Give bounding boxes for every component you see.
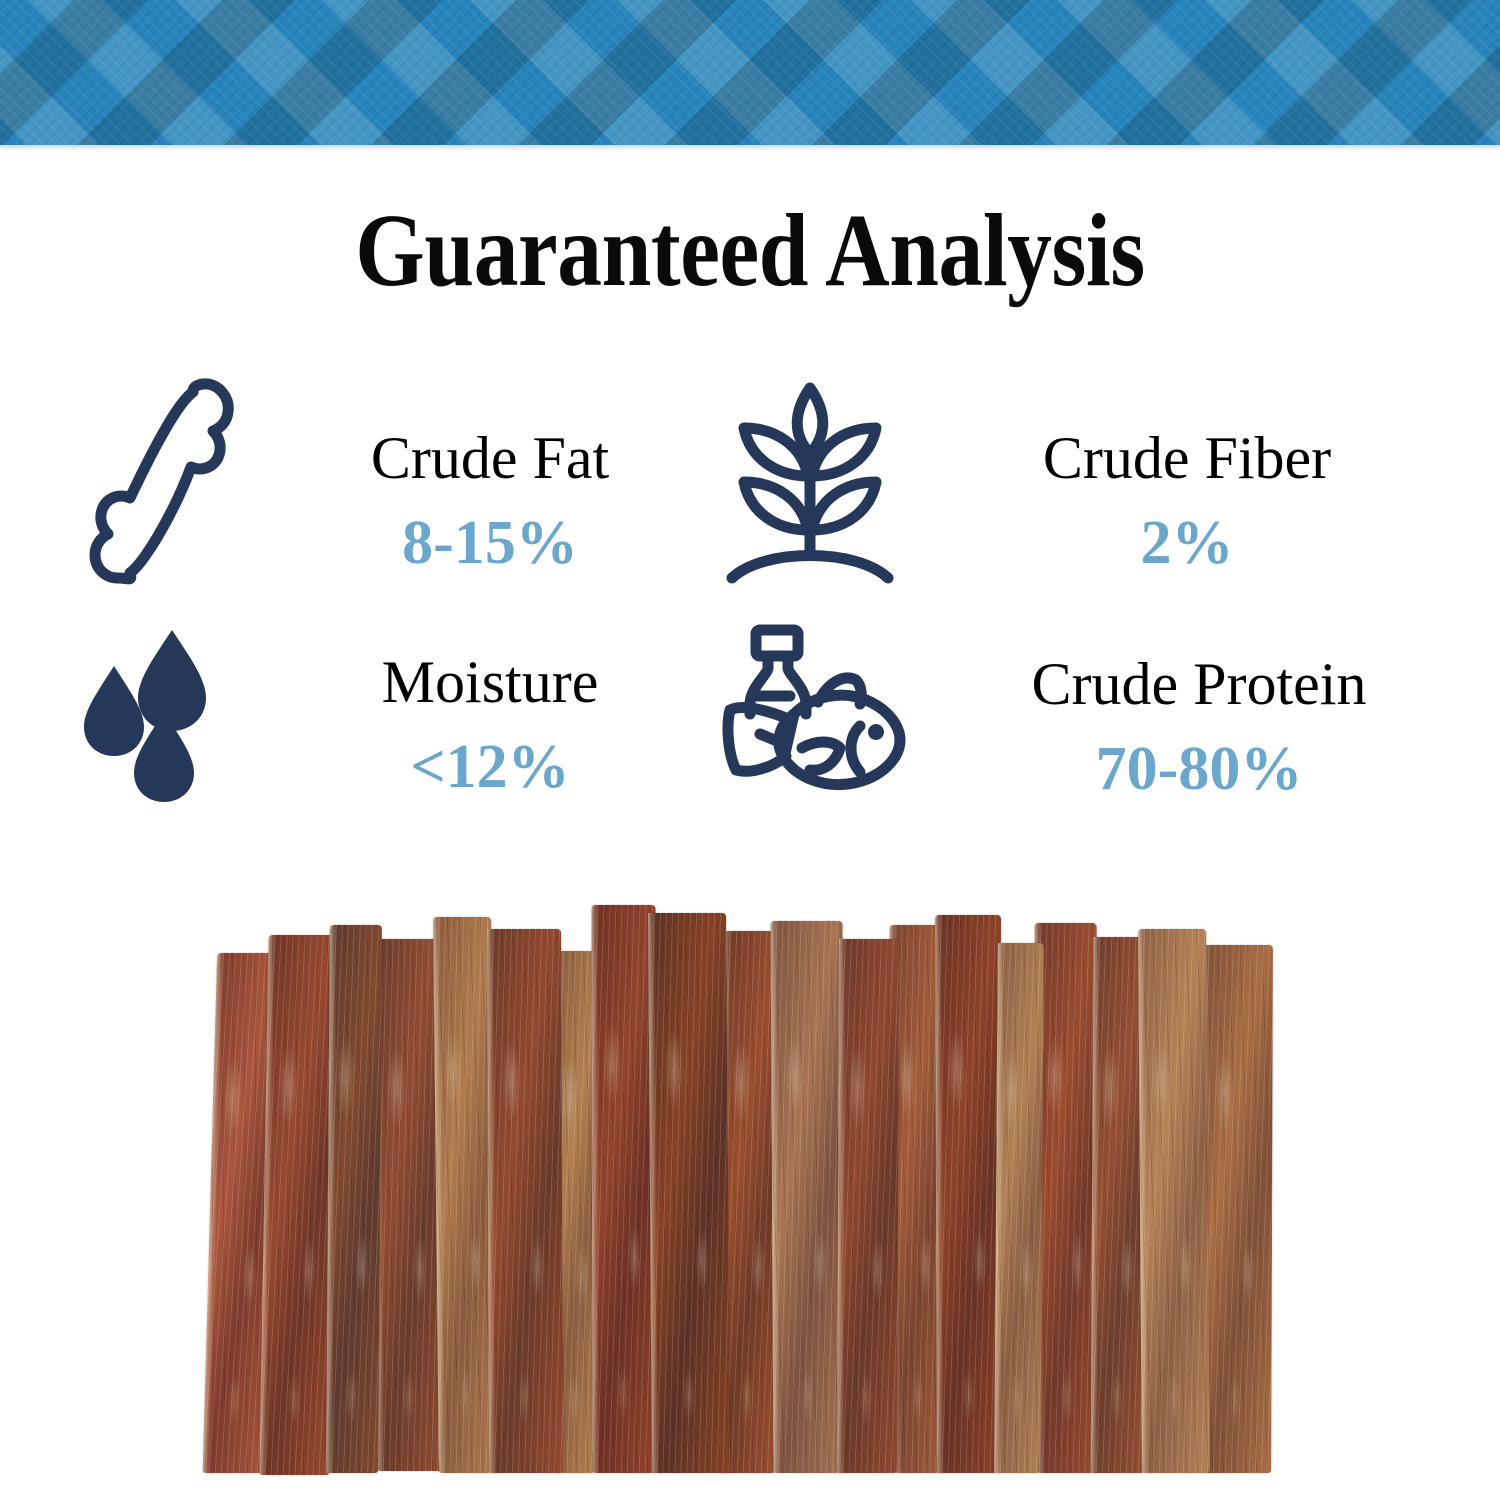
stat-moisture: Moisture <12% xyxy=(80,622,720,802)
stat-label: Crude Fat xyxy=(371,428,609,488)
jerky-strip xyxy=(935,915,1003,1473)
stat-value: 2% xyxy=(1141,512,1234,574)
header-dropshadow xyxy=(0,145,1500,151)
jerky-strip xyxy=(1201,945,1273,1473)
stat-label: Crude Protein xyxy=(1032,654,1367,714)
jerky-strip-edge xyxy=(1091,937,1101,1473)
bone-icon xyxy=(80,366,250,591)
jerky-strip-edge xyxy=(935,915,944,1473)
jerky-strip xyxy=(375,939,444,1471)
stat-value: <12% xyxy=(410,736,569,798)
jerky-strip xyxy=(1035,923,1100,1473)
stat-crude-fiber-text: Crude Fiber 2% xyxy=(914,366,1460,574)
jerky-strip xyxy=(487,929,563,1473)
stat-crude-fat-text: Crude Fat 8-15% xyxy=(260,366,720,574)
wheat-plant-icon xyxy=(720,366,900,591)
jerky-strip xyxy=(837,939,899,1473)
stat-label: Crude Fiber xyxy=(1043,428,1331,488)
jerky-strip-edge xyxy=(771,921,781,1473)
jerky-strip xyxy=(648,913,730,1473)
infographic-page: Guaranteed Analysis Crude Fat 8-15% xyxy=(0,0,1500,1500)
stat-crude-fiber: Crude Fiber 2% xyxy=(720,366,1460,591)
jerky-strip-edge xyxy=(592,905,600,1473)
jerky-strip xyxy=(1138,929,1210,1473)
stat-value: 70-80% xyxy=(1096,738,1303,800)
header-gingham-band xyxy=(0,0,1500,145)
stat-crude-protein-text: Crude Protein 70-80% xyxy=(938,622,1460,800)
product-photo-jerky-strips xyxy=(210,895,1272,1480)
stat-moisture-text: Moisture <12% xyxy=(260,622,720,798)
gingham-thread-texture xyxy=(0,0,1500,145)
stat-crude-fat: Crude Fat 8-15% xyxy=(80,366,720,591)
jerky-strip-edge xyxy=(203,953,225,1473)
jerky-strip xyxy=(771,921,846,1473)
water-droplets-icon xyxy=(80,622,250,802)
page-title: Guaranteed Analysis xyxy=(105,196,1395,305)
fish-oil-bottle-icon xyxy=(720,622,930,812)
stat-value: 8-15% xyxy=(402,512,578,574)
jerky-strip xyxy=(326,925,382,1473)
jerky-strip xyxy=(994,943,1044,1473)
stat-crude-protein: Crude Protein 70-80% xyxy=(720,622,1460,812)
guaranteed-analysis-grid: Crude Fat 8-15% xyxy=(80,360,1460,830)
stat-label: Moisture xyxy=(382,652,599,712)
jerky-strip-edge xyxy=(837,939,846,1473)
jerky-strip xyxy=(592,905,657,1473)
jerky-strip-edge xyxy=(487,929,496,1473)
